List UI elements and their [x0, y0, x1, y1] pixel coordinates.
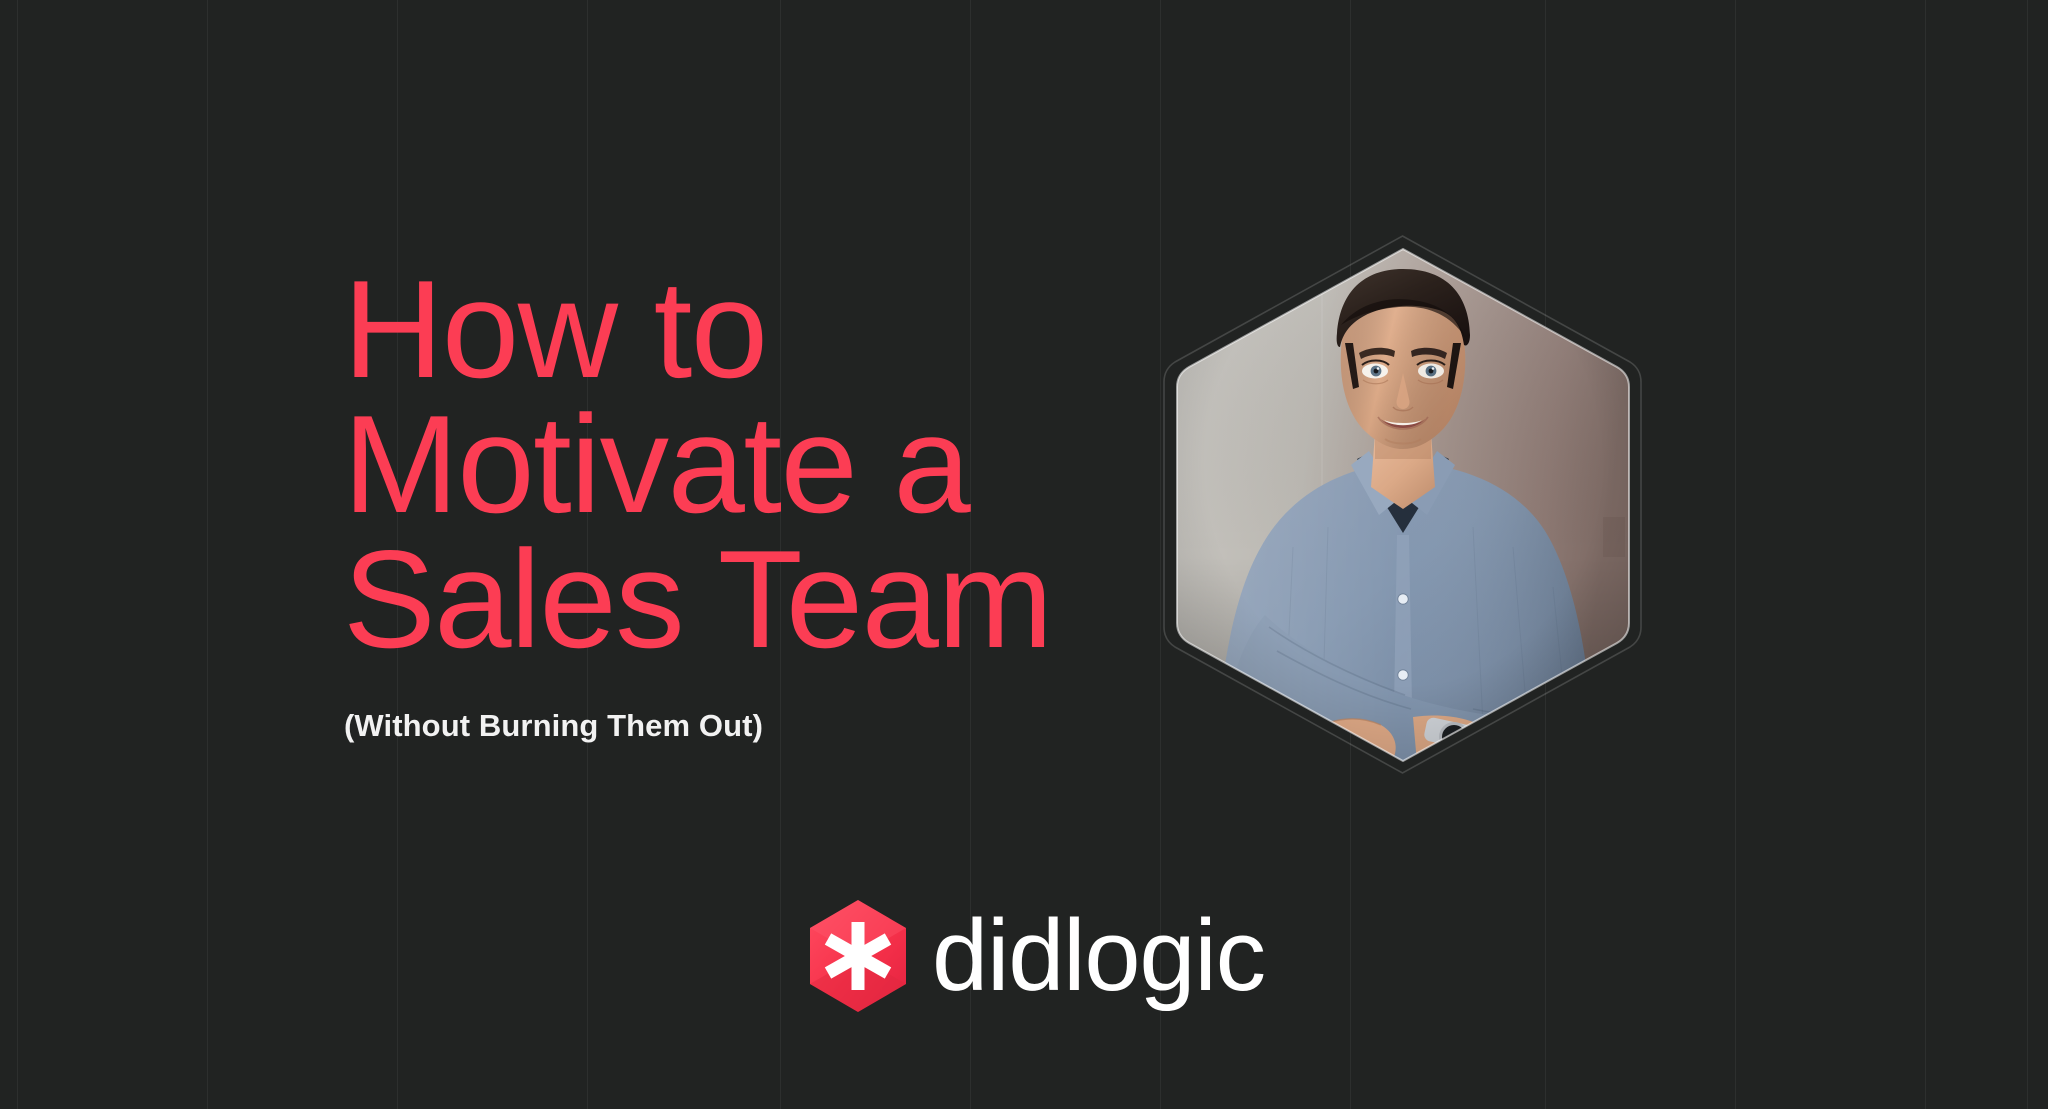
headline-line-3: Sales Team [343, 532, 1263, 667]
headline-line-2: Motivate a [343, 397, 1263, 532]
portrait-hexagon [1160, 232, 1645, 777]
didlogic-logo[interactable]: didlogic [806, 898, 1265, 1014]
didlogic-hexagon-asterisk-icon [806, 898, 910, 1014]
blog-banner: How to Motivate a Sales Team (Without Bu… [0, 0, 2048, 1109]
grid-line [17, 0, 18, 1109]
headline-line-1: How to [343, 262, 1263, 397]
grid-line [1925, 0, 1926, 1109]
grid-line [1735, 0, 1736, 1109]
subtitle: (Without Burning Them Out) [344, 708, 763, 744]
grid-line [207, 0, 208, 1109]
portrait-image [1173, 247, 1633, 763]
headline: How to Motivate a Sales Team [343, 262, 1263, 667]
didlogic-wordmark: didlogic [932, 906, 1265, 1007]
portrait-svg [1173, 247, 1633, 763]
grid-line [2027, 0, 2028, 1109]
